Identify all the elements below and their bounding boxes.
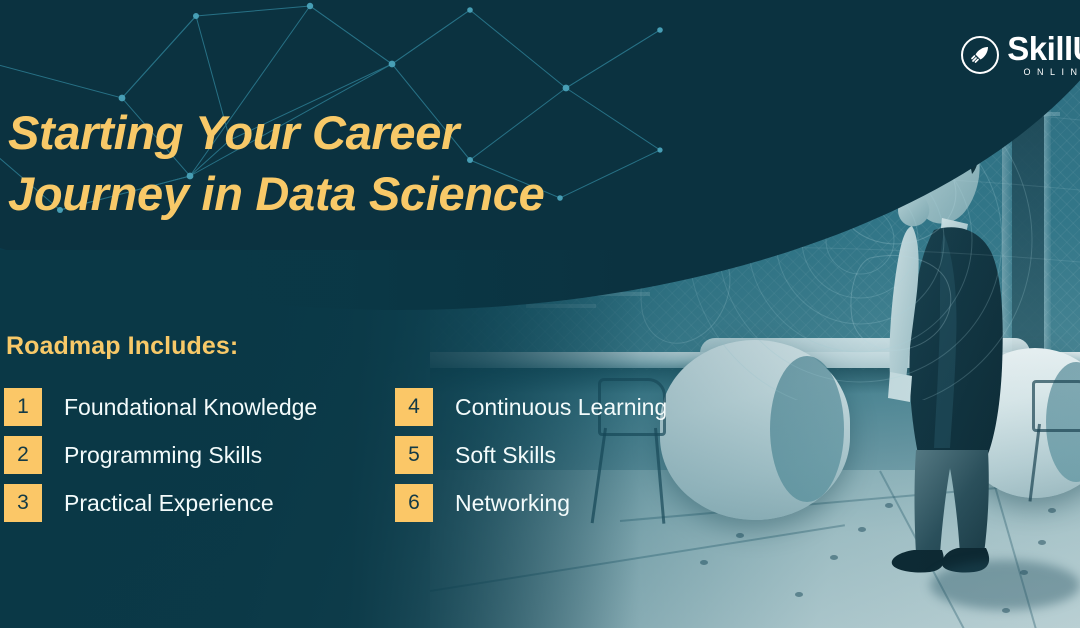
logo-subtitle: ONLINE	[1007, 68, 1080, 77]
banner: 58% 14% 12% 54%	[0, 0, 1080, 628]
headline-line-2: Journey in Data Science	[8, 164, 708, 224]
roadmap-heading: Roadmap Includes:	[6, 332, 238, 361]
list-item-label: Foundational Knowledge	[64, 394, 317, 421]
list-item: 3 Practical Experience	[4, 484, 384, 522]
list-item-label: Programming Skills	[64, 442, 262, 469]
list-item: 1 Foundational Knowledge	[4, 388, 384, 426]
headline-line-1: Starting Your Career	[8, 103, 708, 163]
list-item: 6 Networking	[395, 484, 725, 522]
list-item-label: Continuous Learning	[455, 394, 667, 421]
roadmap-list-left: 1 Foundational Knowledge 2 Programming S…	[4, 388, 384, 532]
list-item-badge: 4	[395, 388, 433, 426]
list-item-label: Networking	[455, 490, 570, 517]
list-item-badge: 3	[4, 484, 42, 522]
list-item-label: Soft Skills	[455, 442, 556, 469]
list-item: 4 Continuous Learning	[395, 388, 725, 426]
page-title: Starting Your Career Journey in Data Sci…	[8, 103, 708, 223]
roadmap-list-right: 4 Continuous Learning 5 Soft Skills 6 Ne…	[395, 388, 725, 532]
list-item-label: Practical Experience	[64, 490, 274, 517]
list-item-badge: 6	[395, 484, 433, 522]
list-item-badge: 5	[395, 436, 433, 474]
brand-logo[interactable]: SkillU ONLINE	[961, 32, 1080, 77]
logo-wordmark: SkillU	[1007, 32, 1080, 65]
list-item-badge: 2	[4, 436, 42, 474]
list-item: 5 Soft Skills	[395, 436, 725, 474]
logo-text: SkillU ONLINE	[1007, 32, 1080, 77]
list-item: 2 Programming Skills	[4, 436, 384, 474]
rocket-icon	[961, 36, 999, 74]
banner-content: Starting Your Career Journey in Data Sci…	[0, 0, 1080, 628]
list-item-badge: 1	[4, 388, 42, 426]
